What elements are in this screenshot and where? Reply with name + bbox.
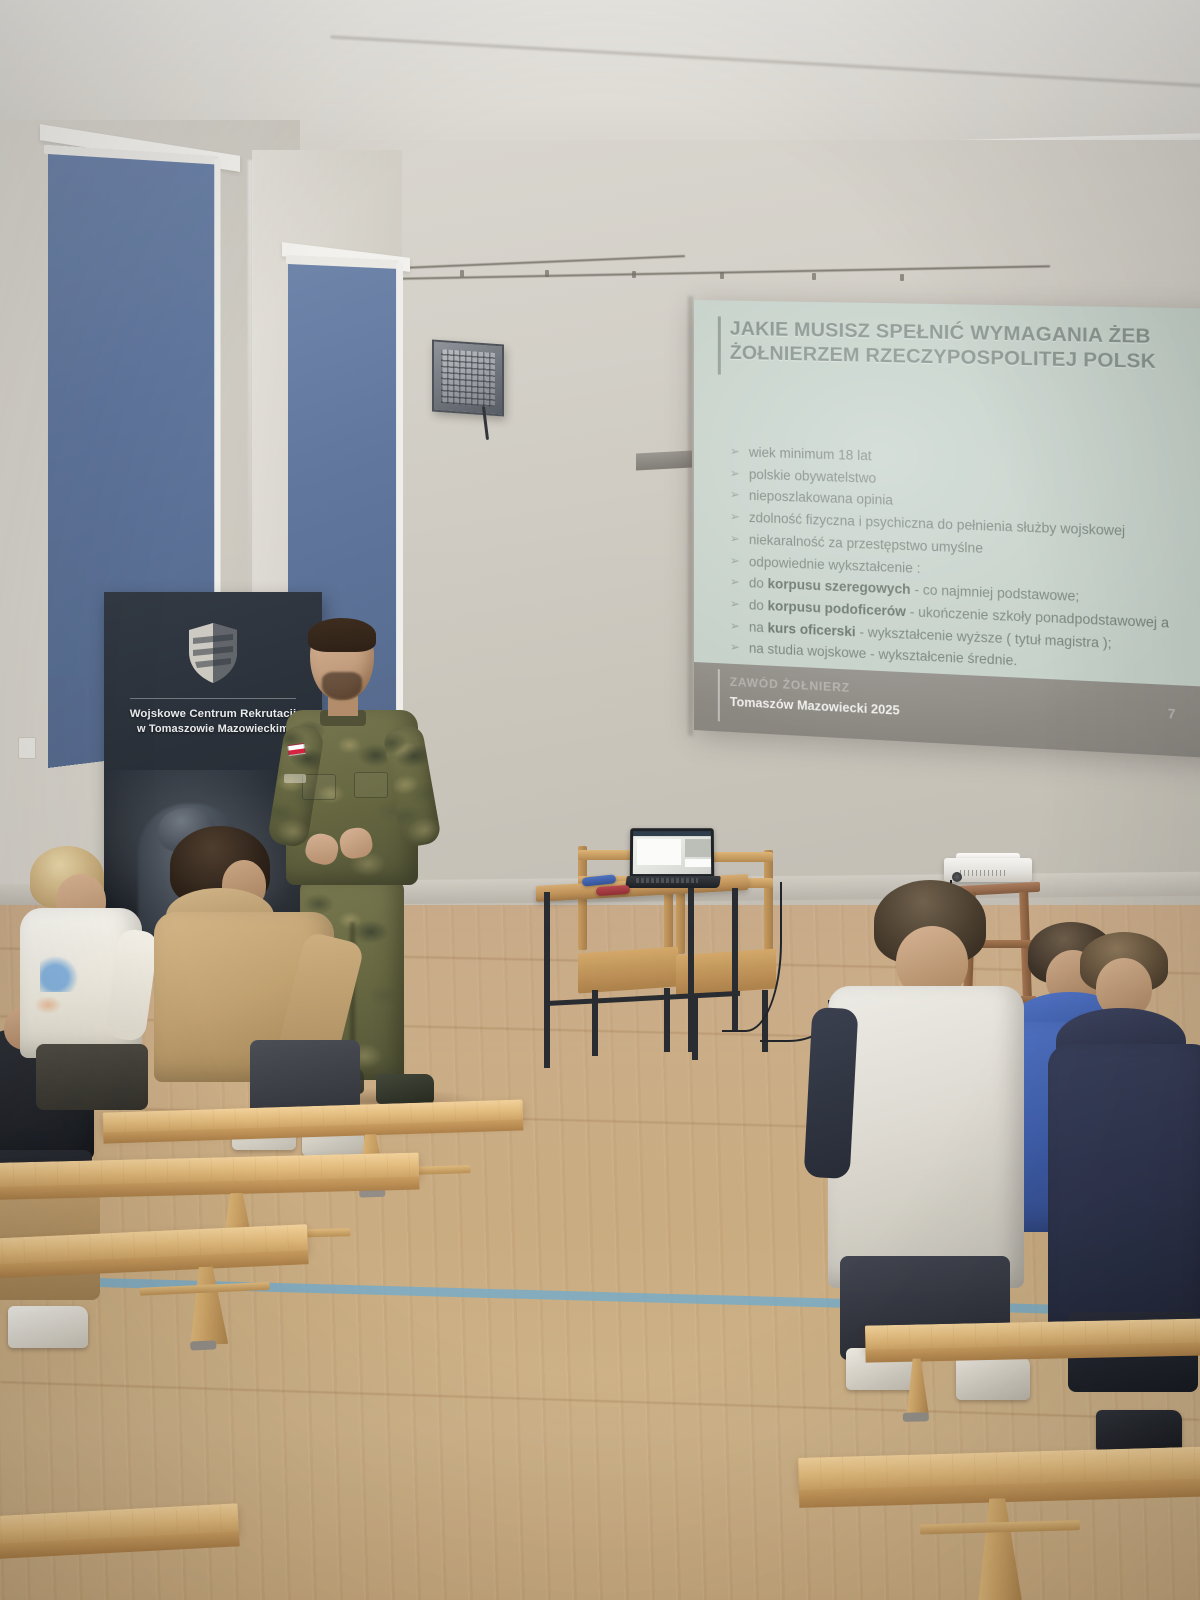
laptop-window-pane [685, 859, 711, 867]
cable-clip [812, 273, 816, 280]
arrow-bullet-icon: ➢ [730, 528, 740, 549]
gym-bench[interactable] [798, 1446, 1200, 1600]
presenter-beard [322, 672, 362, 700]
presenter-table [536, 880, 748, 1070]
arrow-bullet-icon: ➢ [730, 441, 740, 462]
arrow-bullet-icon: ➢ [730, 506, 740, 527]
table-rail [544, 991, 740, 1006]
student-top [1048, 1044, 1200, 1344]
arrow-bullet-icon: ➢ [730, 637, 740, 659]
bench-foot [190, 1340, 216, 1350]
arrow-bullet-icon: ➢ [730, 572, 740, 593]
cable-clip [900, 274, 904, 281]
footer-accent-bar [718, 669, 720, 721]
presenter-boot [376, 1074, 434, 1104]
footer-subtitle: Tomaszów Mazowiecki 2025 [730, 695, 900, 718]
wall-heater [432, 339, 504, 416]
laptop-window-pane [685, 839, 711, 857]
shield-logo-icon [187, 622, 239, 684]
cable-clip [460, 270, 464, 277]
bench-leg [187, 1266, 228, 1346]
arrow-bullet-icon: ➢ [730, 593, 740, 615]
bench-foot [903, 1412, 929, 1422]
table-leg [544, 892, 550, 1068]
presenter-hair [308, 618, 376, 652]
heater-grille [441, 349, 495, 407]
tshirt-graphic [34, 996, 62, 1014]
bench-leg [975, 1498, 1022, 1600]
student-top [828, 986, 1024, 1288]
presentation-slide: JAKIE MUSISZ SPEŁNIĆ WYMAGANIA ŻEB ŻOŁNI… [694, 300, 1200, 760]
slide-bullet-list: ➢ wiek minimum 18 lat ➢ polskie obywatel… [730, 441, 1200, 690]
cable-clip [545, 270, 549, 277]
classroom-presentation-scene: JAKIE MUSISZ SPEŁNIĆ WYMAGANIA ŻEB ŻOŁNI… [0, 0, 1200, 1600]
arrow-bullet-icon: ➢ [730, 550, 740, 571]
laptop-screen[interactable] [633, 831, 711, 874]
bench-leg [906, 1358, 929, 1414]
polish-flag-patch-icon [287, 743, 305, 756]
arrow-bullet-icon: ➢ [730, 615, 740, 637]
screen-left-edge [688, 296, 693, 736]
projector-vent [960, 870, 1006, 876]
wall-plaque [636, 451, 692, 471]
arrow-bullet-icon: ➢ [730, 485, 740, 506]
student-arm-navy-sleeve [804, 1007, 859, 1179]
slide-page-number: 7 [1168, 706, 1176, 722]
arrow-bullet-icon: ➢ [730, 463, 740, 484]
laptop-lid [630, 828, 714, 878]
projector-body [944, 858, 1032, 882]
laptop[interactable] [626, 828, 720, 894]
cable-clip [632, 271, 636, 278]
presenter-chest-pocket [354, 772, 388, 798]
gym-bench[interactable] [865, 1318, 1200, 1435]
gym-bench[interactable] [0, 1503, 242, 1600]
tshirt-graphic [40, 956, 78, 992]
student-bottom [36, 1044, 148, 1110]
projection-screen: JAKIE MUSISZ SPEŁNIĆ WYMAGANIA ŻEB ŻOŁNI… [694, 300, 1200, 760]
cable-clip [720, 272, 724, 279]
slide-title-accent-bar [718, 316, 721, 374]
laptop-keyboard[interactable] [636, 878, 698, 883]
table-leg [688, 882, 694, 1052]
footer-title: ZAWÓD ŻOŁNIERZ [730, 675, 850, 695]
presenter-chest-pocket [302, 774, 336, 800]
presenter-name-patch [284, 774, 306, 783]
slide-title: JAKIE MUSISZ SPEŁNIĆ WYMAGANIA ŻEB ŻOŁNI… [730, 317, 1200, 378]
gym-bench[interactable] [0, 1224, 313, 1370]
wall-socket[interactable] [18, 737, 36, 759]
laptop-titlebar [633, 831, 711, 836]
laptop-window-pane [637, 839, 681, 865]
